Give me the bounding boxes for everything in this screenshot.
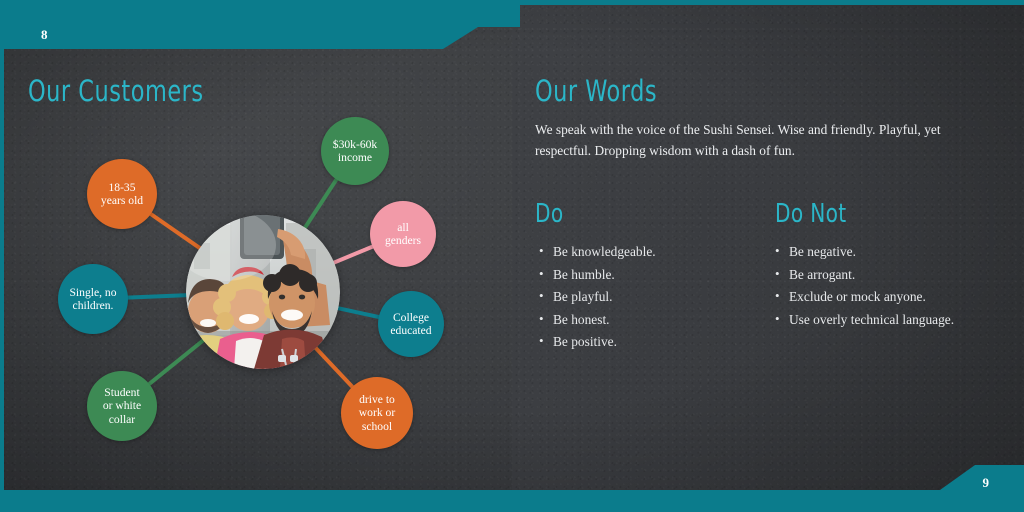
do-list: Be knowledgeable.Be humble.Be playful.Be…	[539, 244, 656, 357]
page-number-right: 9	[983, 475, 990, 491]
do-list-item: Be positive.	[539, 334, 656, 349]
bubble-age[interactable]: 18-35years old	[87, 159, 157, 229]
bubble-education[interactable]: Collegeeducated	[378, 291, 444, 357]
bubble-commute[interactable]: drive towork orschool	[341, 377, 413, 449]
do-list-item: Be knowledgeable.	[539, 244, 656, 259]
do-not-list-item: Exclude or mock anyone.	[775, 289, 954, 304]
connector-line-income	[304, 178, 338, 229]
connector-line-age	[149, 213, 201, 249]
bubble-gender[interactable]: allgenders	[370, 201, 436, 267]
do-not-list: Be negative.Be arrogant.Exclude or mock …	[775, 244, 954, 334]
customer-photo	[186, 215, 340, 369]
do-not-list-item: Use overly technical language.	[775, 312, 954, 327]
bubble-label: drive towork orschool	[354, 393, 400, 434]
slide-deck: 8 9 Our Customers	[0, 0, 1024, 512]
bubble-label: Single, nochildren.	[64, 286, 121, 313]
bubble-income[interactable]: $30k-60kincome	[321, 117, 389, 185]
bubble-label: allgenders	[380, 221, 426, 248]
connector-line-commute	[314, 347, 353, 389]
do-list-item: Be honest.	[539, 312, 656, 327]
do-not-list-item: Be negative.	[775, 244, 954, 259]
bubble-label: $30k-60kincome	[328, 138, 382, 165]
do-heading: Do	[535, 199, 563, 229]
connector-line-occupation	[148, 339, 205, 385]
bubble-label: Collegeeducated	[385, 311, 436, 338]
do-list-item: Be playful.	[539, 289, 656, 304]
voice-description: We speak with the voice of the Sushi Sen…	[535, 119, 960, 161]
do-not-list-item: Be arrogant.	[775, 267, 954, 282]
connector-line-education	[336, 308, 380, 318]
customer-persona-diagram: 18-35years old$30k-60kincomeallgendersSi…	[0, 0, 512, 512]
page-title-our-words: Our Words	[535, 74, 657, 108]
bubble-label: Studentor whitecollar	[98, 386, 146, 427]
bubble-label: 18-35years old	[96, 181, 148, 208]
connector-line-gender	[332, 246, 374, 263]
do-list-item: Be humble.	[539, 267, 656, 282]
connector-line-family	[126, 295, 188, 298]
bubble-family[interactable]: Single, nochildren.	[58, 264, 128, 334]
do-not-heading: Do Not	[775, 199, 846, 229]
bubble-occupation[interactable]: Studentor whitecollar	[87, 371, 157, 441]
